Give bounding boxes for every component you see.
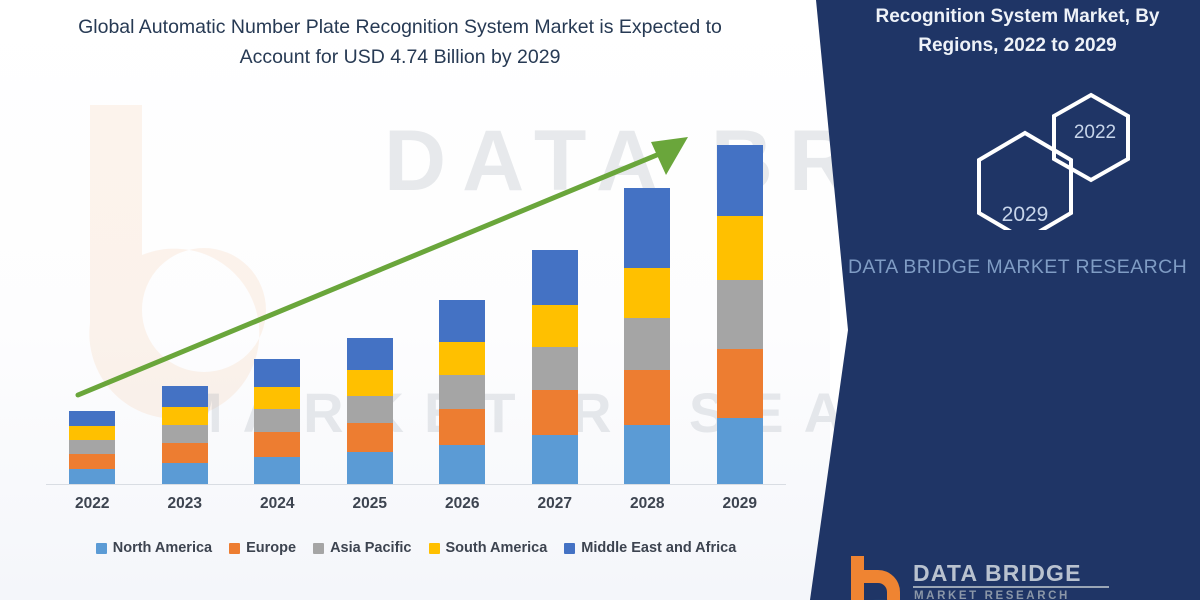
footer-logo: DATA BRIDGE MARKET RESEARCH	[845, 556, 1175, 600]
hex-label-2029: 2029	[980, 203, 1070, 227]
x-axis-label-2028: 2028	[607, 495, 687, 513]
segment-2023-north-america	[162, 463, 208, 485]
segment-2028-asia-pacific	[624, 318, 670, 370]
legend-swatch-icon	[229, 543, 240, 554]
segment-2025-north-america	[347, 452, 393, 485]
legend-swatch-icon	[429, 543, 440, 554]
segment-2024-europe	[254, 432, 300, 457]
legend-item-south-america[interactable]: South America	[429, 540, 548, 556]
legend-label: South America	[446, 540, 548, 556]
hexagon-badges: 2029 2022	[885, 85, 1175, 230]
chart-pane: DATA BRIDGE MARKET RESEARCH Global Autom…	[0, 0, 830, 600]
segment-2024-south-america	[254, 387, 300, 409]
segment-2025-south-america	[347, 370, 393, 396]
bar-2023[interactable]	[162, 386, 208, 485]
segment-2023-asia-pacific	[162, 425, 208, 443]
segment-2029-south-america	[717, 216, 763, 280]
bar-2026[interactable]	[439, 300, 485, 485]
legend-label: Asia Pacific	[330, 540, 411, 556]
right-panel-content: Recognition System Market, By Regions, 2…	[845, 0, 1200, 600]
segment-2022-middle-east-and-africa	[69, 411, 115, 426]
segment-2022-europe	[69, 454, 115, 469]
x-axis-label-2027: 2027	[515, 495, 595, 513]
x-axis-label-2023: 2023	[145, 495, 225, 513]
segment-2026-north-america	[439, 445, 485, 485]
legend-swatch-icon	[313, 543, 324, 554]
legend-label: Middle East and Africa	[581, 540, 736, 556]
segment-2022-asia-pacific	[69, 440, 115, 454]
bar-2027[interactable]	[532, 250, 578, 485]
logo-name: DATA BRIDGE	[913, 560, 1082, 587]
x-axis-label-2026: 2026	[422, 495, 502, 513]
hex-label-2022: 2022	[1055, 122, 1135, 144]
legend-swatch-icon	[96, 543, 107, 554]
segment-2026-asia-pacific	[439, 375, 485, 409]
bar-2024[interactable]	[254, 359, 300, 485]
segment-2026-south-america	[439, 342, 485, 375]
segment-2023-south-america	[162, 407, 208, 425]
segment-2024-asia-pacific	[254, 409, 300, 432]
segment-2029-north-america	[717, 418, 763, 485]
segment-2027-europe	[532, 390, 578, 435]
segment-2029-europe	[717, 349, 763, 418]
segment-2023-middle-east-and-africa	[162, 386, 208, 407]
bar-2022[interactable]	[69, 411, 115, 485]
panel-title: Recognition System Market, By Regions, 2…	[845, 2, 1190, 60]
segment-2029-middle-east-and-africa	[717, 145, 763, 216]
segment-2027-south-america	[532, 305, 578, 347]
legend-item-asia-pacific[interactable]: Asia Pacific	[313, 540, 411, 556]
bridge-logo-icon	[845, 556, 915, 600]
x-axis-label-2022: 2022	[52, 495, 132, 513]
segment-2027-middle-east-and-africa	[532, 250, 578, 305]
segment-2022-north-america	[69, 469, 115, 485]
segment-2028-europe	[624, 370, 670, 425]
segment-2025-middle-east-and-africa	[347, 338, 393, 370]
legend-label: North America	[113, 540, 212, 556]
segment-2027-asia-pacific	[532, 347, 578, 390]
segment-2026-middle-east-and-africa	[439, 300, 485, 342]
bar-2028[interactable]	[624, 188, 670, 485]
segment-2024-north-america	[254, 457, 300, 485]
segment-2023-europe	[162, 443, 208, 463]
bar-2029[interactable]	[717, 145, 763, 485]
plot-area	[46, 100, 786, 485]
x-axis-label-2029: 2029	[700, 495, 780, 513]
stacked-bar-chart: 20222023202420252026202720282029	[0, 0, 830, 600]
segment-2025-asia-pacific	[347, 396, 393, 423]
panel-brand-text: DATA BRIDGE MARKET RESEARCH	[845, 252, 1190, 283]
segment-2027-north-america	[532, 435, 578, 485]
legend-item-europe[interactable]: Europe	[229, 540, 296, 556]
x-axis-label-2024: 2024	[237, 495, 317, 513]
legend-label: Europe	[246, 540, 296, 556]
x-axis-label-2025: 2025	[330, 495, 410, 513]
bar-2025[interactable]	[347, 338, 393, 485]
segment-2026-europe	[439, 409, 485, 445]
segment-2028-middle-east-and-africa	[624, 188, 670, 268]
legend-item-middle-east-and-africa[interactable]: Middle East and Africa	[564, 540, 736, 556]
legend-swatch-icon	[564, 543, 575, 554]
chart-legend: North AmericaEuropeAsia PacificSouth Ame…	[46, 540, 786, 556]
segment-2028-south-america	[624, 268, 670, 318]
segment-2024-middle-east-and-africa	[254, 359, 300, 387]
segment-2028-north-america	[624, 425, 670, 485]
segment-2025-europe	[347, 423, 393, 452]
legend-item-north-america[interactable]: North America	[96, 540, 212, 556]
x-axis-line	[46, 484, 786, 485]
segment-2029-asia-pacific	[717, 280, 763, 349]
segment-2022-south-america	[69, 426, 115, 440]
infographic-root: DATA BRIDGE MARKET RESEARCH Global Autom…	[0, 0, 1200, 600]
logo-tagline: MARKET RESEARCH	[914, 590, 1070, 600]
